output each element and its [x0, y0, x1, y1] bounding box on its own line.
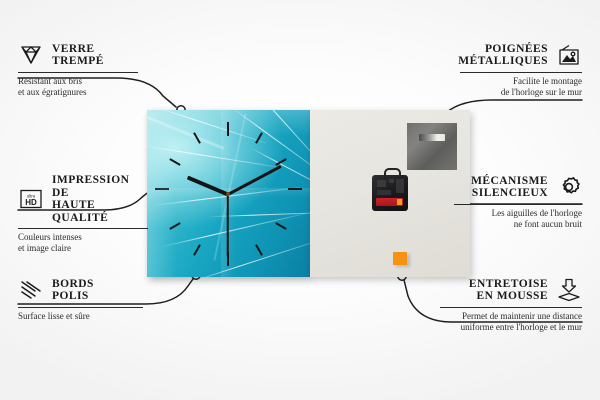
mechanism-detail — [396, 179, 404, 193]
mechanism-detail — [389, 179, 394, 183]
clock-back-panel — [310, 110, 470, 277]
mechanism-hanging-loop — [384, 168, 401, 179]
feature-description: Facilite le montage de l'horloge sur le … — [460, 76, 582, 98]
divider — [454, 204, 582, 205]
feature-impression-haute-qualite: ultra HD IMPRESSION DE HAUTE QUALITÉ Cou… — [18, 174, 148, 254]
clock-center-hub — [226, 192, 230, 196]
divider — [18, 72, 138, 73]
clock-front-face — [147, 110, 310, 277]
feature-title: ENTRETOISE EN MOUSSE — [469, 278, 548, 303]
clock-tick — [193, 244, 201, 255]
divider — [460, 72, 582, 73]
clock-second-hand — [227, 195, 229, 257]
feature-title: VERRE TREMPÉ — [52, 43, 104, 68]
glass-highlight — [147, 110, 177, 277]
feature-header: MÉCANISME SILENCIEUX — [454, 174, 582, 200]
feature-header: POIGNÉES MÉTALLIQUES — [460, 42, 582, 68]
feature-bords-polis: BORDS POLIS Surface lisse et sûre — [18, 277, 143, 322]
polished-edges-icon — [18, 277, 44, 303]
feature-description: Les aiguilles de l'horloge ne font aucun… — [454, 208, 582, 230]
feature-title: BORDS POLIS — [52, 278, 94, 303]
clock-tick — [275, 222, 286, 230]
feather-strand — [190, 238, 310, 277]
divider — [18, 307, 143, 308]
mechanism-detail — [377, 190, 391, 195]
divider — [440, 307, 582, 308]
feature-header: BORDS POLIS — [18, 277, 143, 303]
feature-description: Permet de maintenir une distance uniform… — [440, 311, 582, 333]
feature-title: IMPRESSION DE HAUTE QUALITÉ — [52, 174, 148, 224]
clock-tick — [227, 122, 229, 136]
feature-mecanisme-silencieux: MÉCANISME SILENCIEUX Les aiguilles de l'… — [454, 174, 582, 230]
feature-header: ultra HD IMPRESSION DE HAUTE QUALITÉ — [18, 174, 148, 224]
battery — [376, 198, 403, 206]
feature-verre-trempe: VERRE TREMPÉ Résistant aux bris et aux é… — [18, 42, 138, 98]
wall-frame-hanger-icon — [556, 42, 582, 68]
divider — [18, 228, 148, 229]
battery-positive-terminal — [397, 199, 402, 205]
clock-tick — [255, 244, 263, 255]
ultra-hd-icon: ultra HD — [18, 186, 44, 212]
clock-mechanism — [372, 175, 408, 211]
feature-title: MÉCANISME SILENCIEUX — [471, 175, 548, 200]
diamond-icon — [18, 42, 44, 68]
feature-description: Surface lisse et sûre — [18, 311, 143, 322]
mechanism-detail — [377, 180, 386, 187]
foam-spacer-arrow-icon — [556, 277, 582, 303]
feature-description: Résistant aux bris et aux égratignures — [18, 76, 138, 98]
foam-spacer — [393, 252, 407, 265]
feature-poignees-metalliques: POIGNÉES MÉTALLIQUES Facilite le montage… — [460, 42, 582, 98]
hanger-slot — [419, 134, 445, 141]
feature-entretoise-en-mousse: ENTRETOISE EN MOUSSE Permet de maintenir… — [440, 277, 582, 333]
metal-hanger-plate — [407, 123, 457, 170]
svg-text:HD: HD — [25, 198, 37, 207]
clock-tick — [155, 188, 169, 190]
gear-icon — [556, 174, 582, 200]
feature-header: VERRE TREMPÉ — [18, 42, 138, 68]
feature-header: ENTRETOISE EN MOUSSE — [440, 277, 582, 303]
clock-tick — [288, 188, 302, 190]
feature-description: Couleurs intenses et image claire — [18, 232, 148, 254]
feature-title: POIGNÉES MÉTALLIQUES — [458, 43, 548, 68]
infographic-canvas: VERRE TREMPÉ Résistant aux bris et aux é… — [0, 0, 600, 400]
